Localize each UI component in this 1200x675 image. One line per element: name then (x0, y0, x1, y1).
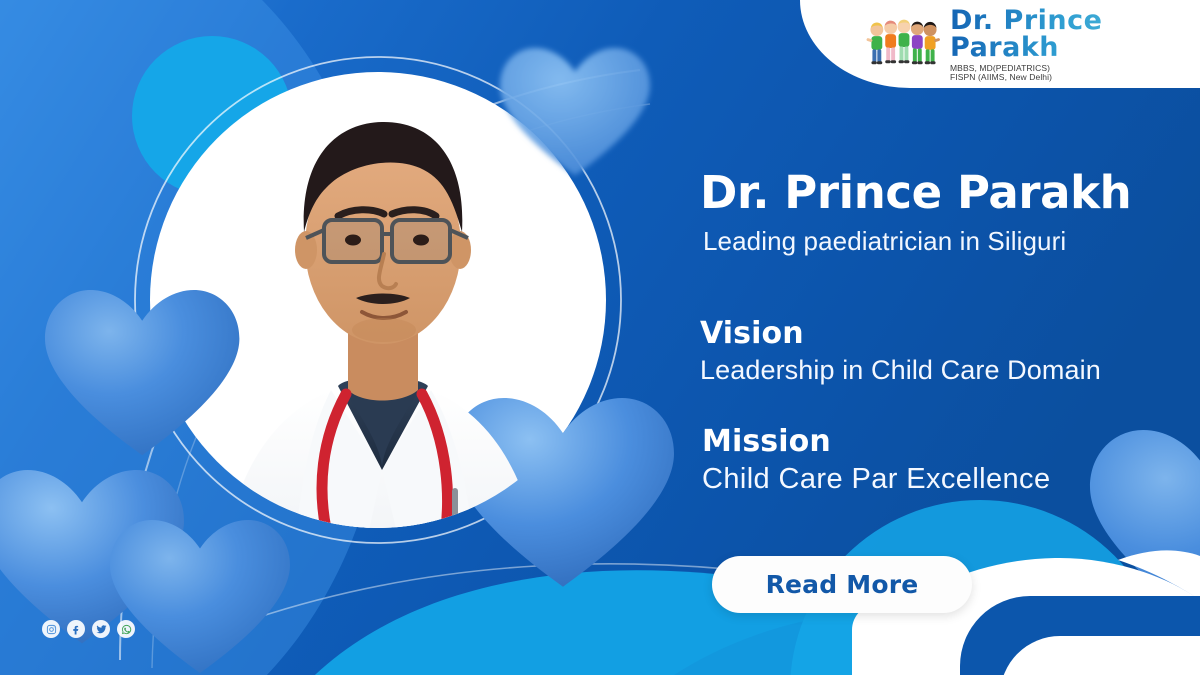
page-subtitle: Leading paediatrician in Siliguri (703, 226, 1200, 257)
vision-text: Leadership in Child Care Domain (700, 355, 1101, 386)
doctor-portrait (196, 18, 586, 638)
hero-content: Dr. Prince Parakh Leading paediatrician … (700, 0, 1200, 675)
hero-banner: Dr. Prince Parakh MBBS, MD(PEDIATRICS) F… (0, 0, 1200, 675)
read-more-button[interactable]: Read More (712, 556, 972, 613)
instagram-icon[interactable] (42, 620, 60, 638)
mission-block: Mission Child Care Par Excellence (702, 424, 1050, 496)
facebook-icon[interactable] (67, 620, 85, 638)
vision-heading: Vision (700, 316, 1101, 351)
mission-heading: Mission (702, 424, 1050, 459)
twitter-icon[interactable] (92, 620, 110, 638)
whatsapp-icon[interactable] (117, 620, 135, 638)
page-title: Dr. Prince Parakh (700, 166, 1170, 219)
vision-block: Vision Leadership in Child Care Domain (700, 316, 1101, 386)
social-links (42, 620, 135, 638)
mission-text: Child Care Par Excellence (702, 463, 1050, 496)
